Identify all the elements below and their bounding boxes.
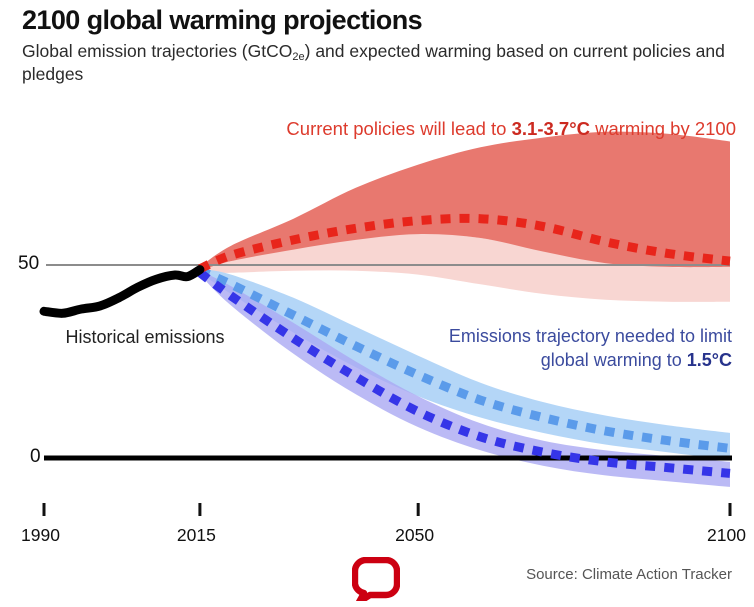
current-policies-annotation: Current policies will lead to 3.1-3.7°C …	[190, 118, 736, 140]
x-axis-label-2100: 2100	[707, 525, 746, 546]
x-axis-label-2015: 2015	[177, 525, 216, 546]
source-credit: Source: Climate Action Tracker	[526, 566, 732, 583]
annotation-blue-emphasis: 1.5°C	[687, 350, 732, 370]
historical-emissions-label: Historical emissions	[60, 326, 230, 349]
x-axis-label-2050: 2050	[395, 525, 434, 546]
one-point-five-annotation: Emissions trajectory needed to limit glo…	[402, 324, 732, 373]
x-axis-ticks	[44, 503, 730, 516]
y-axis-label-50: 50	[18, 253, 39, 275]
emissions-projection-chart	[0, 0, 754, 607]
historical-emissions-line	[44, 270, 200, 314]
speech-bubble-icon	[352, 557, 400, 601]
x-axis-label-1990: 1990	[21, 525, 60, 546]
y-axis-label-0: 0	[30, 446, 41, 468]
annotation-red-suffix: warming by 2100	[590, 118, 736, 139]
chart-svg	[0, 0, 754, 607]
annotation-red-emphasis: 3.1-3.7°C	[512, 118, 590, 139]
annotation-red-prefix: Current policies will lead to	[286, 118, 511, 139]
the-conversation-logo	[352, 557, 400, 601]
